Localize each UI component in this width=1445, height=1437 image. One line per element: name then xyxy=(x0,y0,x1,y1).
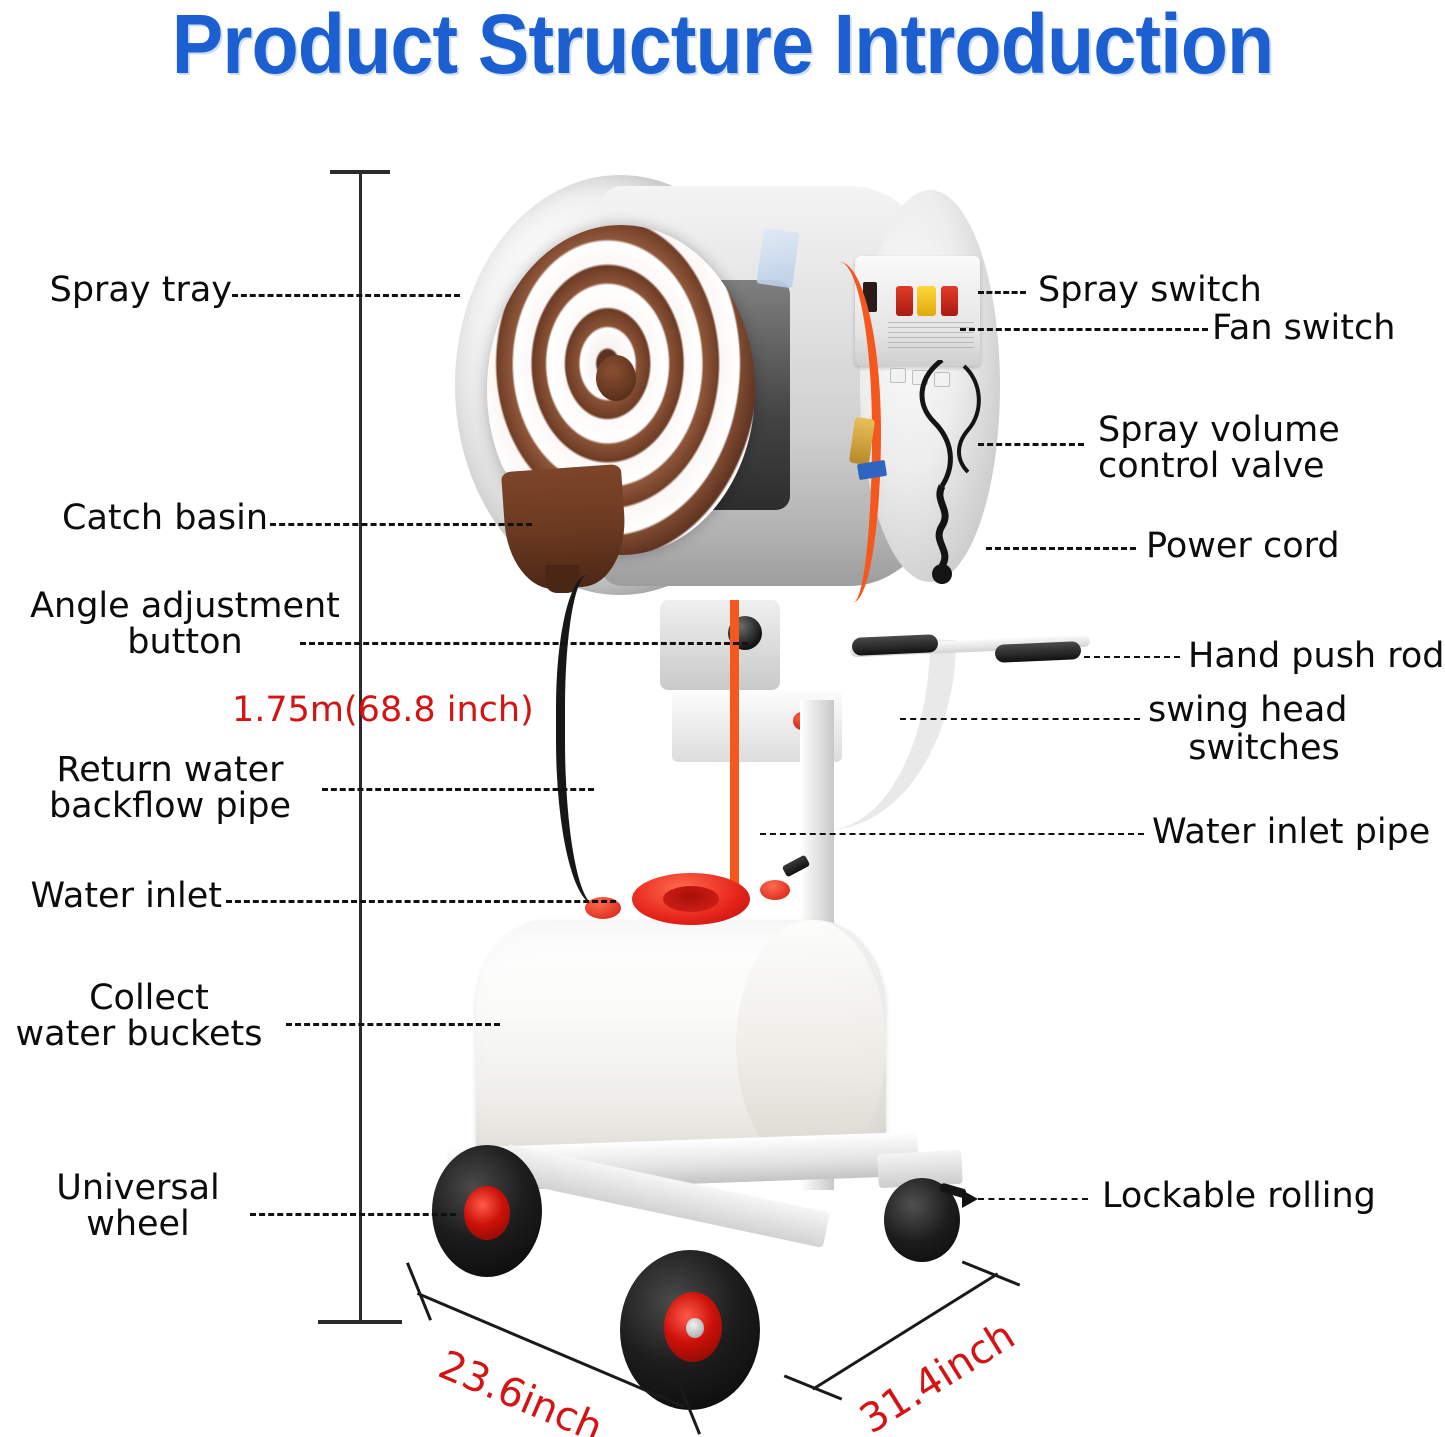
label-return-water-line1: Return water xyxy=(20,752,320,789)
product-structure-diagram: Product Structure Introduction xyxy=(0,0,1445,1437)
label-spray-volume-line1: Spray volume xyxy=(1098,412,1438,449)
label-water-inlet: Water inlet xyxy=(0,878,222,915)
label-catch-basin: Catch basin xyxy=(0,500,268,537)
fan-hub xyxy=(596,355,636,401)
label-water-inlet-pipe: Water inlet pipe xyxy=(1152,814,1445,851)
leader-power-cord xyxy=(986,547,1136,550)
leader-hand-push-rod xyxy=(1084,656,1180,658)
fan-switch-part[interactable] xyxy=(941,286,958,316)
leader-spray-switch xyxy=(978,291,1026,294)
leader-fan-switch xyxy=(960,328,1208,331)
height-dimension-line xyxy=(359,170,362,1322)
label-universal-wheel-line2: wheel xyxy=(30,1206,246,1243)
leader-collect-buckets xyxy=(286,1023,500,1026)
label-return-water-line2: backflow pipe xyxy=(20,788,320,825)
tank-outlet-port[interactable] xyxy=(760,880,790,900)
tank-filler-opening xyxy=(663,886,719,912)
leader-swing-head xyxy=(900,718,1140,720)
wheel-hub-left xyxy=(464,1186,510,1240)
label-collect-buckets-line1: Collect xyxy=(20,980,278,1017)
handle-grip-right[interactable] xyxy=(995,641,1082,663)
leader-universal-wheel xyxy=(250,1213,456,1216)
label-lockable-rolling: Lockable rolling xyxy=(1102,1178,1432,1215)
height-dimension-label: 1.75m(68.8 inch) xyxy=(232,690,534,730)
tank-end-cap xyxy=(736,920,886,1170)
label-spray-switch: Spray switch xyxy=(1038,272,1398,309)
label-collect-buckets-line2: water buckets xyxy=(0,1016,278,1053)
leader-return-water xyxy=(322,788,594,791)
arrow-icon-lockable-rolling xyxy=(962,1190,978,1208)
label-fan-switch: Fan switch xyxy=(1212,310,1445,347)
label-swing-head-line2: switches xyxy=(1148,730,1380,767)
leader-angle-adjustment xyxy=(300,642,748,645)
leader-lockable-rolling xyxy=(978,1198,1088,1200)
label-hand-push-rod: Hand push rod xyxy=(1188,638,1444,675)
label-swing-head-line1: swing head xyxy=(1148,692,1445,729)
label-power-cord: Power cord xyxy=(1146,528,1445,565)
handle-grip-left[interactable] xyxy=(852,634,939,656)
wheel-axle-nut xyxy=(686,1318,704,1338)
leader-spray-volume xyxy=(978,443,1084,446)
spray-switch-part[interactable] xyxy=(896,286,913,316)
leader-water-inlet-pipe xyxy=(760,833,1144,835)
height-dimension-cap-bottom xyxy=(318,1320,402,1324)
control-box-legend xyxy=(888,322,974,348)
height-dimension-cap-top xyxy=(330,170,390,174)
label-universal-wheel-line1: Universal xyxy=(20,1170,256,1207)
indicator-lamp xyxy=(917,286,936,316)
brand-sticker xyxy=(756,228,799,288)
power-cord-part xyxy=(912,360,990,610)
leader-spray-tray xyxy=(232,294,460,297)
label-spray-volume-line2: control valve xyxy=(1098,448,1438,485)
return-water-backflow-pipe-part xyxy=(556,575,635,905)
leader-water-inlet xyxy=(226,900,616,903)
cable-gland-1 xyxy=(890,368,906,383)
label-spray-tray: Spray tray xyxy=(0,272,232,309)
leader-catch-basin xyxy=(270,523,532,526)
label-angle-adjustment-line1: Angle adjustment xyxy=(20,588,350,625)
